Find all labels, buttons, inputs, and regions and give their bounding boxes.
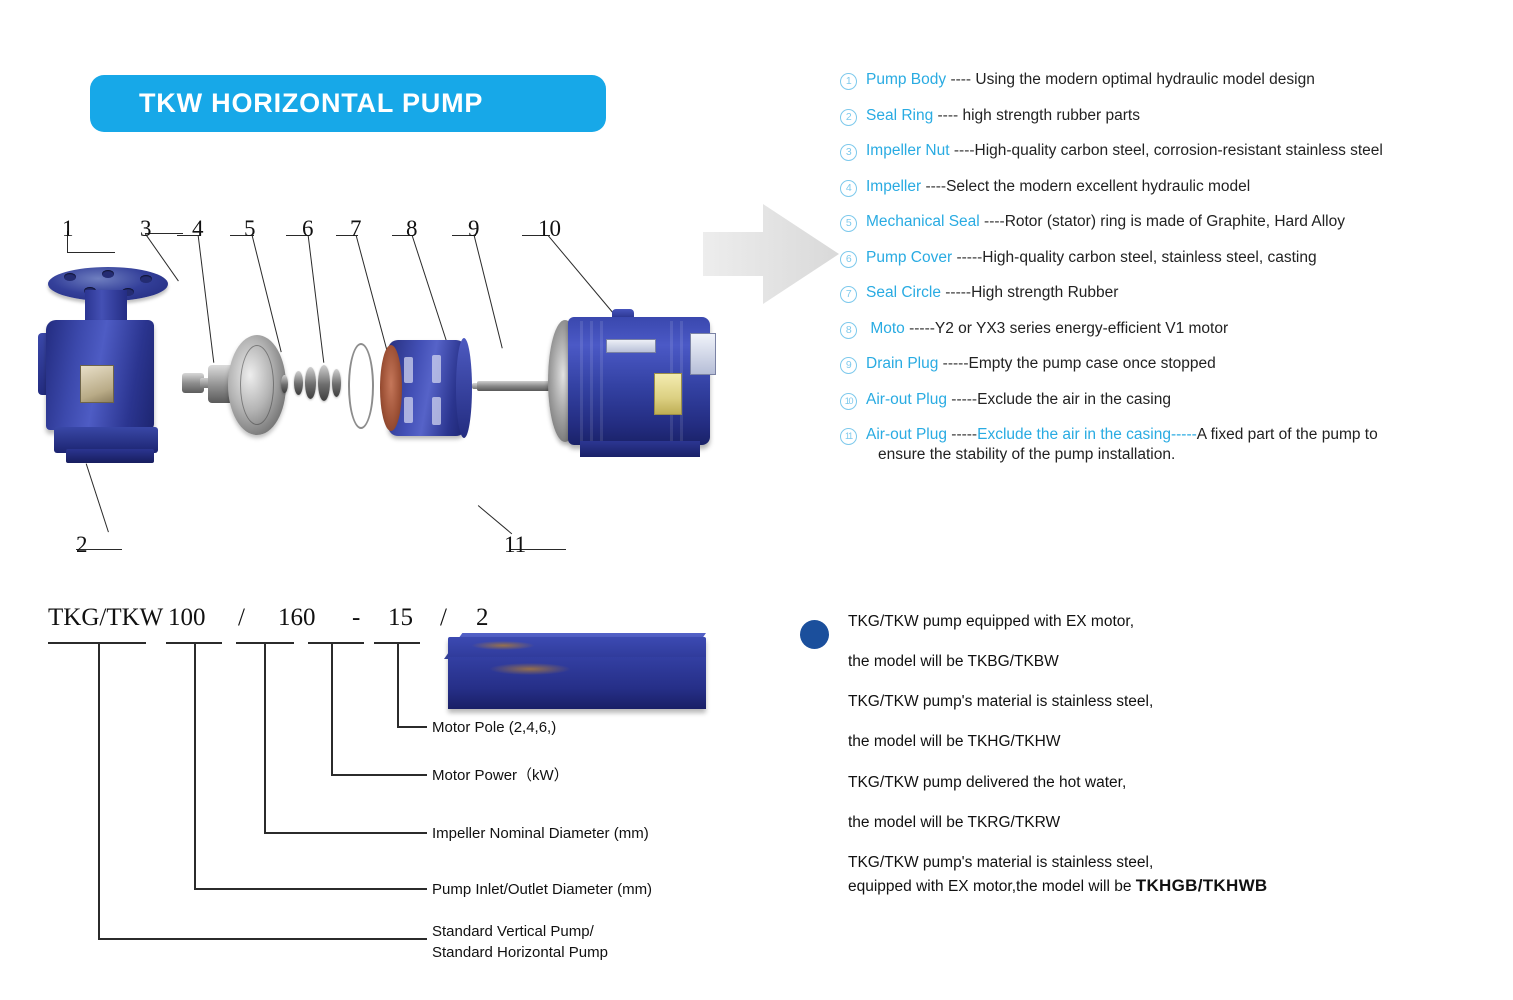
legend-part-name: Drain Plug (866, 355, 938, 372)
note-final-model: TKHGB/TKHWB (1136, 876, 1268, 895)
legend-description: High-quality carbon steel, stainless ste… (982, 249, 1316, 266)
leader-line (355, 236, 388, 354)
legend-number-circle: 10 (840, 393, 857, 410)
legend-dash: ---- (980, 213, 1005, 230)
callout-number-7: 7 (350, 217, 362, 240)
callout-number-8: 8 (406, 217, 418, 240)
parts-legend: 1 Pump Body ---- Using the modern optima… (840, 70, 1500, 480)
code-leader (397, 642, 399, 726)
model-code-segment: 100 (168, 604, 206, 632)
callout-number-5: 5 (244, 217, 256, 240)
motor-label (690, 333, 716, 375)
legend-part-name: Seal Circle (866, 284, 941, 301)
model-label-motor-power: Motor Power（kW） (432, 766, 569, 786)
code-leader (397, 726, 427, 728)
legend-text: Pump Cover -----High-quality carbon stee… (866, 248, 1500, 268)
legend-description: Select the modern excellent hydraulic mo… (946, 178, 1250, 195)
legend-dash: ---- (950, 142, 975, 159)
legend-number-circle: 5 (840, 215, 857, 232)
note-line: TKG/TKW pump delivered the hot water, (848, 773, 1400, 793)
legend-dash: ----- (952, 249, 982, 266)
legend-text: Drain Plug -----Empty the pump case once… (866, 354, 1500, 374)
legend-text: Pump Body ---- Using the modern optimal … (866, 70, 1500, 90)
callout-number-1: 1 (62, 217, 74, 240)
code-leader (194, 642, 196, 888)
code-leader (98, 642, 100, 938)
legend-number-circle: 2 (840, 109, 857, 126)
legend-text: Seal Ring ---- high strength rubber part… (866, 106, 1500, 126)
legend-item: 8 Moto -----Y2 or YX3 series energy-effi… (840, 319, 1500, 339)
leader-line (478, 505, 513, 534)
callout-number-9: 9 (468, 217, 480, 240)
note-line: TKG/TKW pump equipped with EX motor, (848, 612, 1400, 632)
legend-number-circle: 11 (840, 428, 857, 445)
legend-dash: ---- (946, 71, 975, 88)
legend-item: 4 Impeller ----Select the modern excelle… (840, 177, 1500, 197)
callout-number-6: 6 (302, 217, 314, 240)
note-line: TKG/TKW pump's material is stainless ste… (848, 692, 1400, 712)
page-title-banner: TKW HORIZONTAL PUMP (90, 75, 606, 132)
callout-number-11: 11 (504, 533, 526, 556)
mechanical-seal-part (294, 371, 303, 395)
pump-cover-rim (456, 338, 472, 438)
legend-description: A fixed part of the pump to (1197, 426, 1378, 443)
legend-dash: ----- (947, 391, 977, 408)
model-code-segment: 160 (278, 604, 316, 632)
model-label-motor-pole: Motor Pole (2,4,6,) (432, 718, 556, 738)
legend-dash: ----- (905, 320, 935, 337)
code-leader (194, 888, 427, 890)
model-code-segment: 15 (388, 604, 413, 632)
legend-text: Air-out Plug -----Exclude the air in the… (866, 425, 1500, 465)
legend-part-name: Pump Cover (866, 249, 952, 266)
legend-item: 10 Air-out Plug -----Exclude the air in … (840, 390, 1500, 410)
note-line: the model will be TKBG/TKBW (848, 652, 1400, 672)
note-final-prefix: equipped with EX motor,the model will be (848, 878, 1136, 895)
legend-description-blue: Exclude the air in the casing----- (977, 426, 1197, 443)
model-label-inlet-dia: Pump Inlet/Outlet Diameter (mm) (432, 880, 652, 900)
legend-number-circle: 1 (840, 73, 857, 90)
bullet-dot-icon (800, 620, 829, 649)
legend-item: 7 Seal Circle -----High strength Rubber (840, 283, 1500, 303)
legend-description-line2: ensure the stability of the pump install… (866, 445, 1500, 465)
model-code-breakdown: TKG/TKW 100 / 160 - 15 / 2 Motor Pole (2… (40, 600, 740, 970)
note-line: the model will be TKHG/TKHW (848, 732, 1400, 752)
mechanical-seal-part (305, 367, 316, 399)
mechanical-seal-part (318, 365, 330, 401)
legend-part-name: Air-out Plug (866, 391, 947, 408)
legend-dash: ----- (941, 284, 971, 301)
legend-item: 11 Air-out Plug -----Exclude the air in … (840, 425, 1500, 465)
motor-shaft (477, 381, 559, 391)
note-line-final-2: equipped with EX motor,the model will be… (848, 875, 1400, 897)
legend-text: Moto -----Y2 or YX3 series energy-effici… (866, 319, 1500, 339)
leader-line (473, 236, 502, 349)
motor-feet (580, 441, 700, 457)
code-leader (331, 642, 333, 774)
legend-text: Mechanical Seal ----Rotor (stator) ring … (866, 212, 1500, 232)
legend-dash: ---- (921, 178, 946, 195)
legend-part-name: Impeller Nut (866, 142, 950, 159)
pump-foot-base (66, 449, 154, 463)
legend-item: 3 Impeller Nut ----High-quality carbon s… (840, 141, 1500, 161)
code-leader (331, 774, 427, 776)
callout-number-4: 4 (192, 217, 204, 240)
legend-text: Impeller Nut ----High-quality carbon ste… (866, 141, 1500, 161)
code-underline (308, 642, 364, 644)
legend-number-circle: 9 (840, 357, 857, 374)
legend-part-name: Impeller (866, 178, 921, 195)
legend-item: 1 Pump Body ---- Using the modern optima… (840, 70, 1500, 90)
legend-dash: ----- (938, 355, 968, 372)
exploded-pump-diagram: 1345678910211 (40, 205, 700, 565)
callout-number-2: 2 (76, 533, 88, 556)
code-leader (98, 938, 427, 940)
flow-arrow (703, 200, 839, 308)
legend-description: Empty the pump case once stopped (969, 355, 1216, 372)
seal-circle-oring (348, 343, 374, 429)
impeller-vane (240, 345, 274, 425)
legend-item: 5 Mechanical Seal ----Rotor (stator) rin… (840, 212, 1500, 232)
legend-part-name: Air-out Plug (866, 426, 947, 443)
legend-text: Air-out Plug -----Exclude the air in the… (866, 390, 1500, 410)
leader-line (85, 463, 109, 532)
model-code-separator: / (238, 604, 245, 632)
mechanical-seal-part (332, 369, 341, 397)
model-label-impeller-dia: Impeller Nominal Diameter (mm) (432, 824, 649, 844)
legend-part-name: Pump Body (866, 71, 946, 88)
motor-nameplate (606, 339, 656, 353)
legend-dash: ---- (933, 107, 962, 124)
code-underline (48, 642, 146, 644)
legend-number-circle: 8 (840, 322, 857, 339)
pump-cover-face (380, 345, 402, 431)
leader-line (307, 236, 324, 363)
legend-part-name: Seal Ring (866, 107, 933, 124)
legend-dash: ----- (947, 426, 977, 443)
legend-description: Exclude the air in the casing (977, 391, 1171, 408)
legend-description: Rotor (stator) ring is made of Graphite,… (1005, 213, 1345, 230)
legend-number-circle: 7 (840, 286, 857, 303)
note-line: the model will be TKRG/TKRW (848, 813, 1400, 833)
legend-number-circle: 6 (840, 251, 857, 268)
model-label-pump-standard: Standard Vertical Pump/ (432, 922, 594, 942)
mechanical-seal-part (281, 375, 288, 393)
motor-terminal-box (654, 373, 682, 415)
legend-text: Seal Circle -----High strength Rubber (866, 283, 1500, 303)
legend-description: High strength Rubber (971, 284, 1118, 301)
code-leader (264, 832, 427, 834)
legend-item: 6 Pump Cover -----High-quality carbon st… (840, 248, 1500, 268)
page-title: TKW HORIZONTAL PUMP (139, 88, 483, 119)
note-line-final-1: TKG/TKW pump's material is stainless ste… (848, 853, 1400, 873)
legend-description: high strength rubber parts (962, 107, 1140, 124)
leader-line (411, 235, 449, 348)
legend-text: Impeller ----Select the modern excellent… (866, 177, 1500, 197)
legend-description: Y2 or YX3 series energy-efficient V1 mot… (935, 320, 1228, 337)
legend-description: High-quality carbon steel, corrosion-res… (975, 142, 1383, 159)
legend-item: 9 Drain Plug -----Empty the pump case on… (840, 354, 1500, 374)
model-variant-notes: TKG/TKW pump equipped with EX motor, the… (800, 612, 1400, 917)
model-label-pump-standard-line2: Standard Horizontal Pump (432, 943, 608, 963)
legend-description: Using the modern optimal hydraulic model… (975, 71, 1314, 88)
pump-nameplate (80, 365, 114, 403)
callout-number-10: 10 (538, 217, 561, 240)
product-spec-page: TKW HORIZONTAL PUMP (0, 0, 1513, 1000)
callout-number-3: 3 (140, 217, 152, 240)
model-code-separator: - (352, 604, 360, 632)
legend-part-name: Moto (870, 320, 904, 337)
legend-part-name: Mechanical Seal (866, 213, 980, 230)
leader-line (67, 252, 115, 253)
legend-number-circle: 4 (840, 180, 857, 197)
model-code-separator: / (440, 604, 447, 632)
notes-body: TKG/TKW pump equipped with EX motor, the… (848, 612, 1400, 897)
model-code-segment: 2 (476, 604, 489, 632)
code-leader (264, 642, 266, 832)
leader-line (197, 236, 214, 363)
legend-number-circle: 3 (840, 144, 857, 161)
model-code-segment: TKG/TKW (48, 604, 163, 632)
legend-item: 2 Seal Ring ---- high strength rubber pa… (840, 106, 1500, 126)
